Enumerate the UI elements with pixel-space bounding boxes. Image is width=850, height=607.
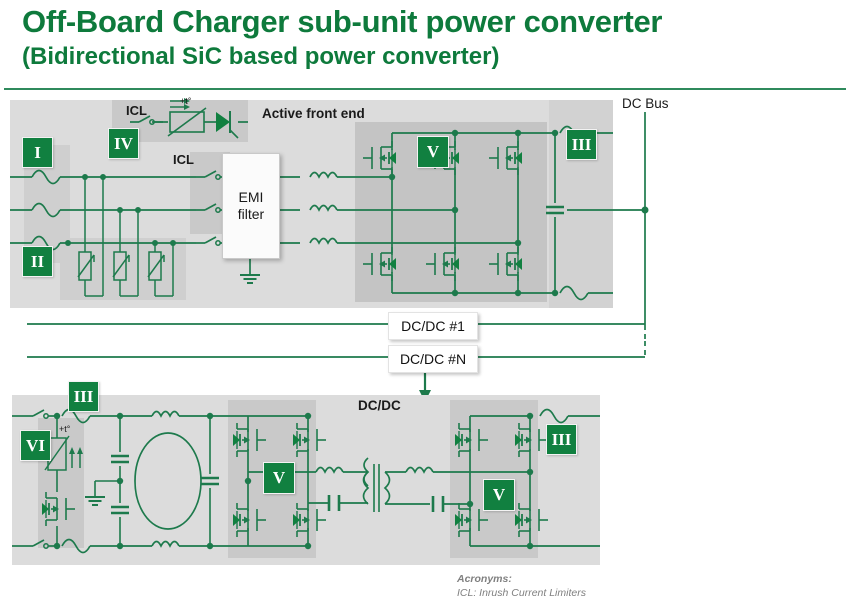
acronyms-entry-icl: ICL: Inrush Current Limiters	[457, 587, 586, 599]
badge-III-dcdc-input: III	[68, 381, 99, 412]
thermistor-mark-dcdc: +t°	[59, 424, 70, 434]
emi-filter-label-line2: filter	[238, 206, 264, 223]
badge-V-dcdc-primary: V	[263, 462, 295, 494]
badge-III-dc-link: III	[566, 129, 597, 160]
badge-IV: IV	[108, 128, 139, 159]
emi-filter-label-line1: EMI	[239, 189, 264, 206]
badge-II: II	[22, 246, 53, 277]
emi-filter-block: EMI filter	[222, 153, 280, 259]
label-dc-bus: DC Bus	[622, 96, 669, 111]
badge-V-dcdc-secondary: V	[483, 479, 515, 511]
circuit-schematic	[0, 0, 850, 607]
label-dcdc: DC/DC	[358, 398, 401, 413]
badge-VI: VI	[20, 430, 51, 461]
diagram-page: Off-Board Charger sub-unit power convert…	[0, 0, 850, 607]
dcdc-stage-box-1: DC/DC #1	[388, 312, 478, 340]
badge-III-dcdc-output: III	[546, 424, 577, 455]
label-active-front-end: Active front end	[262, 106, 365, 121]
badge-I: I	[22, 137, 53, 168]
label-icl-bank: ICL	[173, 152, 194, 167]
thermistor-mark-afe: +t°	[180, 96, 191, 106]
badge-V-afe: V	[417, 136, 449, 168]
dc-bus-group	[642, 112, 649, 356]
label-icl-detail: ICL	[126, 103, 147, 118]
acronyms-heading: Acronyms:	[457, 573, 512, 585]
dcdc-stage-box-n: DC/DC #N	[388, 345, 478, 373]
dcdc-distribution-lines	[27, 324, 645, 402]
